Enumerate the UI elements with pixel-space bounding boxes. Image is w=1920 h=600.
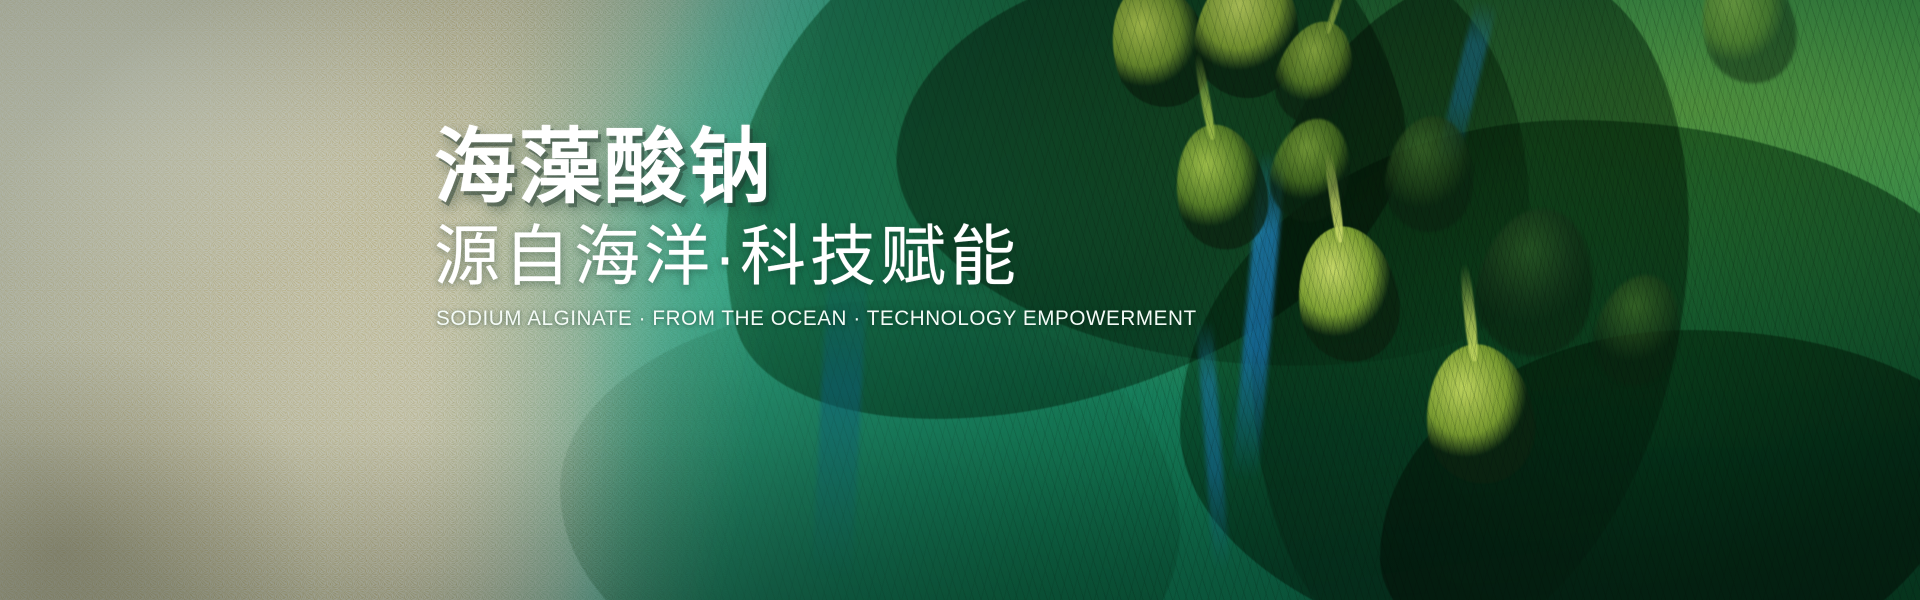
banner-copy: 海藻酸钠 源自海洋·科技赋能 SODIUM ALGINATE · FROM TH… — [434, 126, 1214, 331]
banner-english-tagline: SODIUM ALGINATE · FROM THE OCEAN · TECHN… — [436, 306, 1183, 331]
banner-subheadline: 源自海洋·科技赋能 — [434, 220, 1214, 294]
banner-headline: 海藻酸钠 — [434, 126, 1214, 210]
hero-banner: 海藻酸钠 源自海洋·科技赋能 SODIUM ALGINATE · FROM TH… — [0, 0, 1920, 600]
